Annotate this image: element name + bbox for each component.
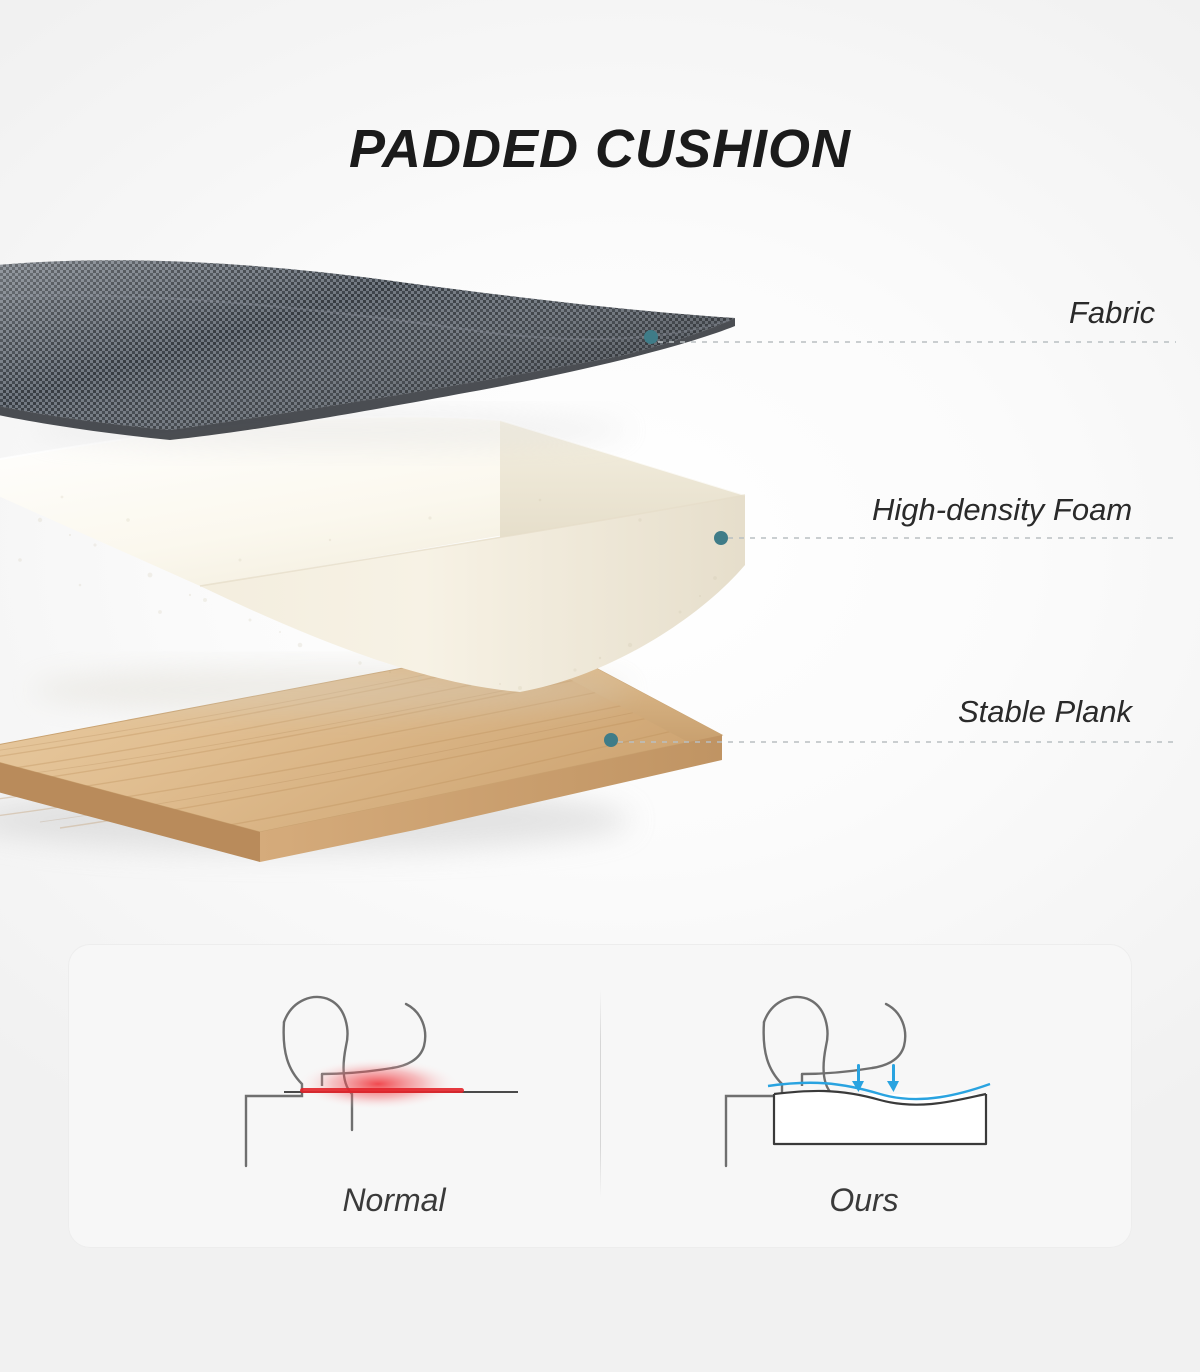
caption-ours: Ours <box>714 1182 1014 1219</box>
layer-fabric <box>0 260 735 448</box>
exploded-layer-diagram: Fabric High-density Foam Stable Plank <box>0 0 1200 930</box>
label-stable-plank: Stable Plank <box>958 694 1132 730</box>
caption-normal: Normal <box>244 1182 544 1219</box>
illustration-ours <box>726 997 990 1166</box>
label-high-density-foam: High-density Foam <box>872 492 1132 528</box>
product-infographic: PADDED CUSHION <box>0 0 1200 1372</box>
illustration-normal <box>246 997 518 1166</box>
label-fabric: Fabric <box>1069 295 1155 331</box>
layer-high-density-foam <box>0 416 745 714</box>
